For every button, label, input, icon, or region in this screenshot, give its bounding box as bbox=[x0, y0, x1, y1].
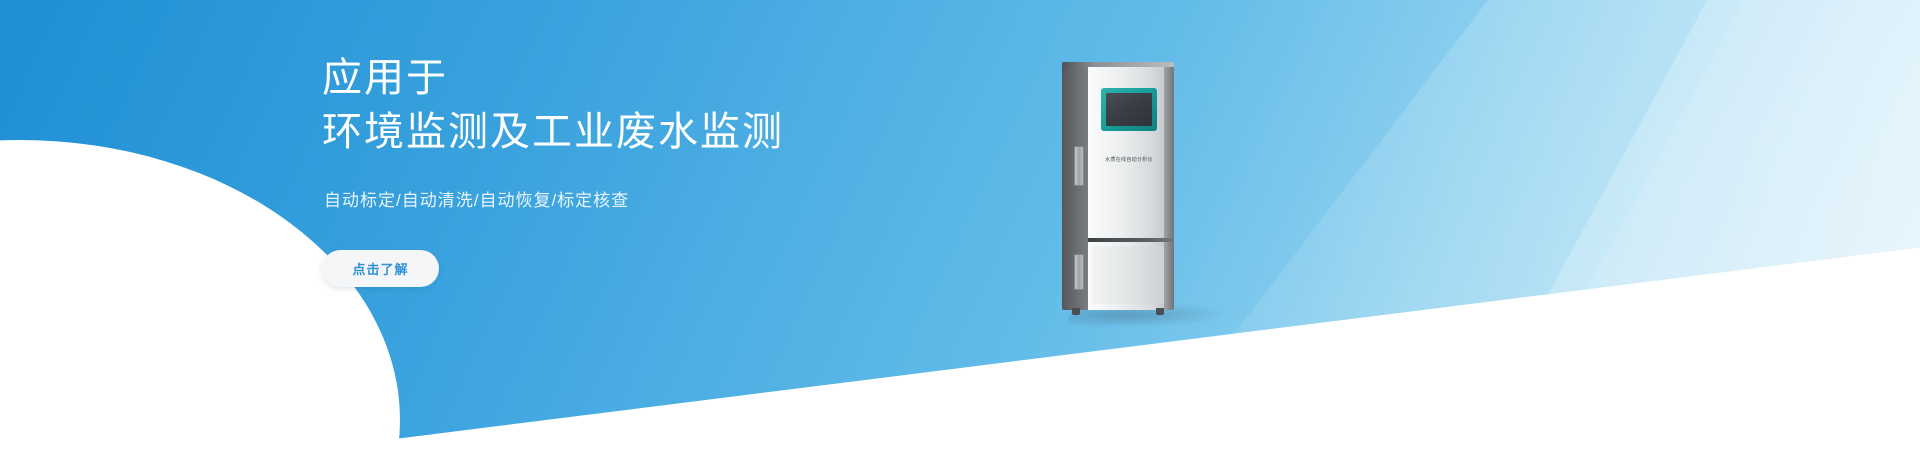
display-screen bbox=[1106, 93, 1152, 126]
headline-line-2: 环境监测及工业废水监测 bbox=[322, 106, 784, 160]
hero-content: 应用于 环境监测及工业废水监测 自动标定/自动清洗/自动恢复/标定核查 点击了解 bbox=[322, 0, 1082, 450]
cabinet-upper-handle bbox=[1074, 146, 1084, 186]
product-label: 水质在线自动分析仪 bbox=[1092, 156, 1166, 163]
headline-line-1: 应用于 bbox=[322, 56, 448, 100]
hero-banner: 应用于 环境监测及工业废水监测 自动标定/自动清洗/自动恢复/标定核查 点击了解… bbox=[0, 0, 1920, 450]
cabinet-foot-right bbox=[1156, 308, 1164, 315]
learn-more-button[interactable]: 点击了解 bbox=[322, 250, 439, 287]
cabinet-foot-left bbox=[1072, 308, 1080, 315]
cabinet-section-divider bbox=[1088, 238, 1174, 242]
product-image-water-analyzer: 水质在线自动分析仪 bbox=[1062, 62, 1192, 314]
hero-headline: 应用于 环境监测及工业废水监测 bbox=[322, 52, 784, 159]
cabinet-top-cap bbox=[1062, 62, 1174, 67]
hero-subtitle: 自动标定/自动清洗/自动恢复/标定核查 bbox=[324, 186, 629, 211]
display-bezel bbox=[1101, 88, 1157, 131]
cabinet-right-edge bbox=[1164, 62, 1174, 310]
cabinet-lower-handle bbox=[1074, 254, 1084, 290]
cabinet-lower-door bbox=[1092, 246, 1164, 304]
